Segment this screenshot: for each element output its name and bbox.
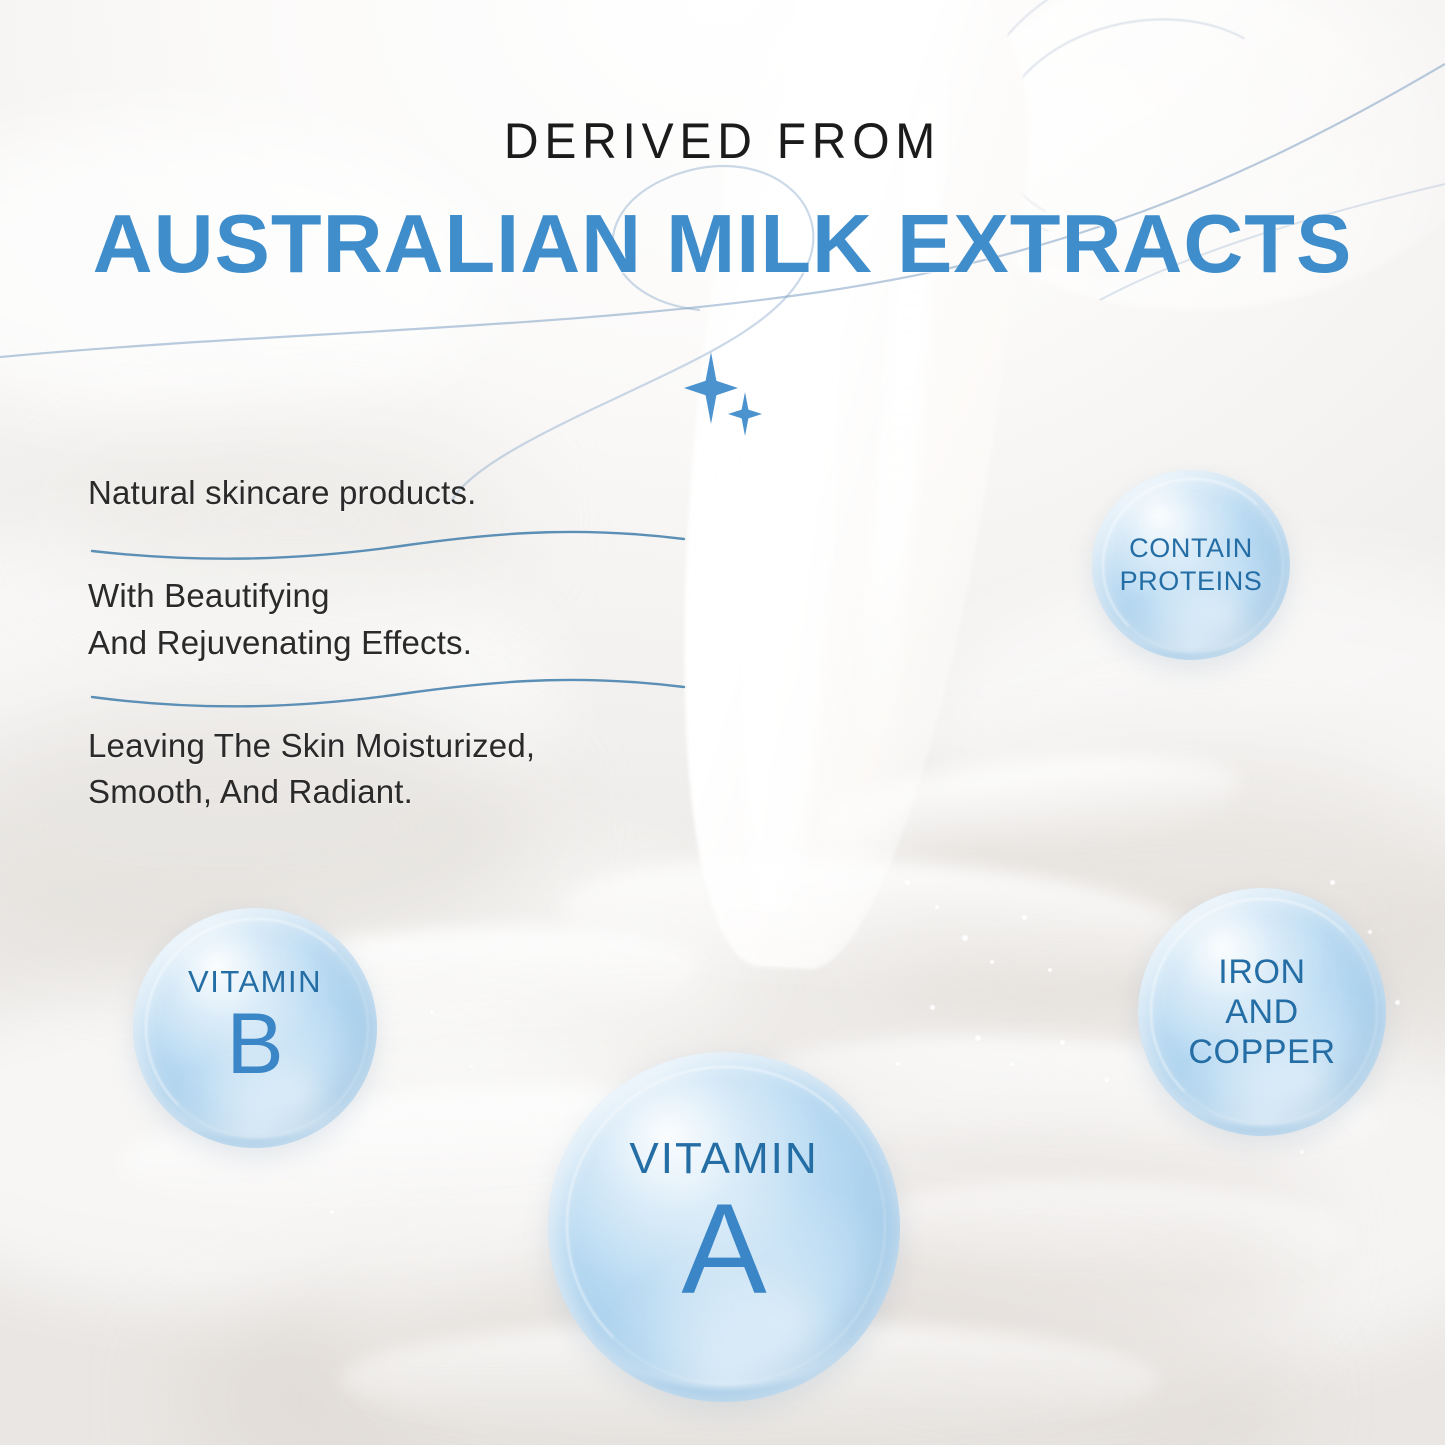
bubble-vitamin-b-label: VITAMIN — [188, 966, 322, 997]
bubble-vitamin-b: VITAMIN B — [133, 908, 377, 1148]
milk-droplet — [975, 1035, 981, 1041]
bubble-vitamin-a-label: VITAMIN — [629, 1137, 818, 1181]
bubble-vitamin-a: VITAMIN A — [548, 1052, 900, 1402]
sparkle-large-icon — [684, 352, 738, 424]
wave-divider-1 — [88, 517, 688, 573]
milk-droplet — [962, 935, 968, 941]
milk-droplet — [896, 1062, 900, 1066]
milk-droplet — [1022, 915, 1027, 920]
milk-droplet — [330, 1210, 334, 1214]
bubble-proteins-line-1: CONTAIN — [1120, 532, 1263, 565]
page-kicker: DERIVED FROM — [29, 112, 1416, 170]
bubble-iron-and-copper: IRON AND COPPER — [1138, 888, 1386, 1136]
benefit-line-3b: Smooth, And Radiant. — [88, 769, 728, 816]
benefits-copy-block: Natural skincare products. With Beautify… — [88, 470, 728, 816]
milk-droplet — [1300, 1150, 1304, 1154]
page-title: AUSTRALIAN MILK EXTRACTS — [0, 196, 1445, 292]
milk-droplet — [470, 1065, 473, 1068]
milk-droplet — [1395, 1000, 1400, 1005]
milk-droplet — [905, 880, 910, 885]
bubble-vitamin-b-letter: B — [188, 999, 322, 1089]
milk-droplet — [1048, 968, 1052, 972]
wave-divider-2 — [88, 667, 688, 723]
milk-droplet — [1105, 1078, 1109, 1082]
milk-droplet — [1010, 1062, 1014, 1066]
bubble-iron-line-3: COPPER — [1188, 1032, 1335, 1072]
milk-droplet — [935, 905, 939, 909]
milk-droplet — [1060, 1040, 1065, 1045]
milk-droplet — [1368, 930, 1372, 934]
sparkle-group — [684, 352, 784, 432]
benefit-line-1: Natural skincare products. — [88, 470, 728, 517]
benefit-line-3a: Leaving The Skin Moisturized, — [88, 723, 728, 770]
poster-canvas: DERIVED FROM AUSTRALIAN MILK EXTRACTS Na… — [0, 0, 1445, 1445]
benefit-line-2a: With Beautifying — [88, 573, 728, 620]
benefit-line-2b: And Rejuvenating Effects. — [88, 620, 728, 667]
milk-droplet — [930, 1005, 935, 1010]
bubble-proteins-line-2: PROTEINS — [1120, 565, 1263, 598]
sparkle-small-icon — [728, 392, 762, 436]
bubble-contain-proteins: CONTAIN PROTEINS — [1092, 470, 1290, 660]
milk-droplet — [430, 1010, 434, 1014]
bubble-iron-line-1: IRON — [1188, 952, 1335, 992]
bubble-iron-line-2: AND — [1188, 992, 1335, 1032]
milk-droplet — [1330, 880, 1335, 885]
bubble-vitamin-a-letter: A — [629, 1183, 818, 1316]
milk-droplet — [990, 960, 994, 964]
